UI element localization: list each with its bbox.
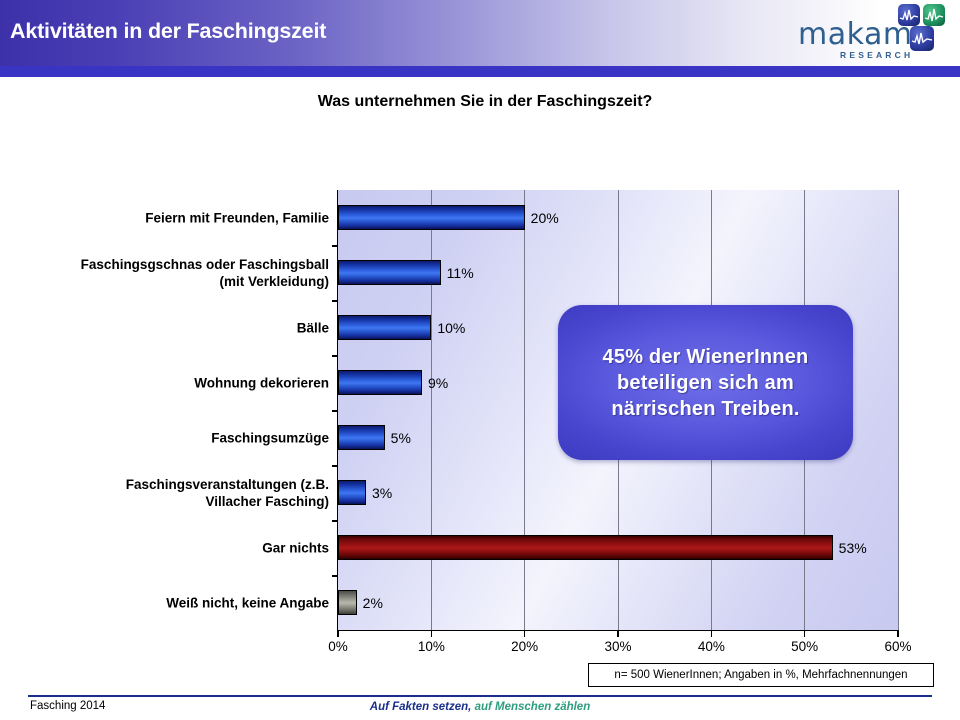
y-axis-tick [332,575,338,577]
x-axis-tick-label: 20% [511,639,538,654]
waveform-icon [898,4,920,26]
bar-value-label: 3% [372,485,392,501]
category-label-4: Wohnung dekorieren [9,374,329,391]
gridline-vertical [898,190,899,630]
x-axis-tick-label: 0% [328,639,348,654]
x-axis-tick [337,630,339,637]
bar-value-label: 5% [391,430,411,446]
x-axis-tick-label: 10% [418,639,445,654]
bar-2 [338,260,441,285]
category-label-5: Faschingsumzüge [9,429,329,446]
logo-wordmark-text: makam [798,20,913,50]
callout-highlight-box: 45% der WienerInnenbeteiligen sich amnär… [558,305,853,460]
y-axis-tick [332,465,338,467]
bar-1 [338,205,525,230]
category-label-1: Feiern mit Freunden, Familie [9,209,329,226]
logo-tile-green-topright-icon [923,4,945,26]
chart-category-axis-labels: Feiern mit Freunden, FamilieFaschingsgsc… [9,190,329,630]
gridline-vertical [431,190,432,630]
logo-tile-blue-bottom-icon [910,26,934,51]
footer-divider [28,695,932,697]
category-label-6: Faschingsveranstaltungen (z.B.Villacher … [9,476,329,510]
waveform-icon [923,4,945,26]
bar-value-label: 53% [839,540,867,556]
header-accent-band [0,66,960,77]
makam-research-logo: makam RESEARCH [798,4,946,64]
category-label-7: Gar nichts [9,539,329,556]
bar-6 [338,480,366,505]
bar-value-label: 20% [531,210,559,226]
bar-8 [338,590,357,615]
category-label-3: Bälle [9,319,329,336]
bar-value-label: 10% [437,320,465,336]
x-axis-tick [897,630,899,637]
x-axis-tick-label: 30% [604,639,631,654]
sample-size-note: n= 500 WienerInnen; Angaben in %, Mehrfa… [588,663,934,687]
gridline-vertical [524,190,525,630]
footer-tagline-part1: Auf Fakten setzen, [370,701,472,713]
x-axis-tick [804,630,806,637]
bar-value-label: 2% [363,595,383,611]
footer-tagline: Auf Fakten setzen, auf Menschen zählen [0,701,960,713]
bar-5 [338,425,385,450]
x-axis-tick [711,630,713,637]
waveform-icon [910,26,934,51]
category-label-2: Faschingsgschnas oder Faschingsball(mit … [9,256,329,290]
x-axis-tick [431,630,433,637]
footer-tagline-part2: auf Menschen zählen [471,701,590,713]
callout-text: 45% der WienerInnenbeteiligen sich amnär… [603,344,809,422]
y-axis-tick [332,410,338,412]
y-axis-tick [332,520,338,522]
bar-7 [338,535,833,560]
y-axis-tick [332,300,338,302]
bar-value-label: 9% [428,375,448,391]
chart-title: Was unternehmen Sie in der Faschingszeit… [0,93,960,111]
bar-3 [338,315,431,340]
x-axis-tick [617,630,619,637]
y-axis-tick [332,355,338,357]
category-label-8: Weiß nicht, keine Angabe [9,594,329,611]
bar-4 [338,370,422,395]
logo-subtitle-text: RESEARCH [840,50,913,60]
x-axis-tick [524,630,526,637]
x-axis-tick-label: 50% [791,639,818,654]
page-title: Aktivitäten in der Faschingszeit [10,19,326,44]
y-axis-tick [332,245,338,247]
logo-tile-blue-topleft-icon [898,4,920,26]
x-axis-tick-label: 60% [884,639,911,654]
bar-value-label: 11% [447,265,474,281]
x-axis-tick-label: 40% [698,639,725,654]
